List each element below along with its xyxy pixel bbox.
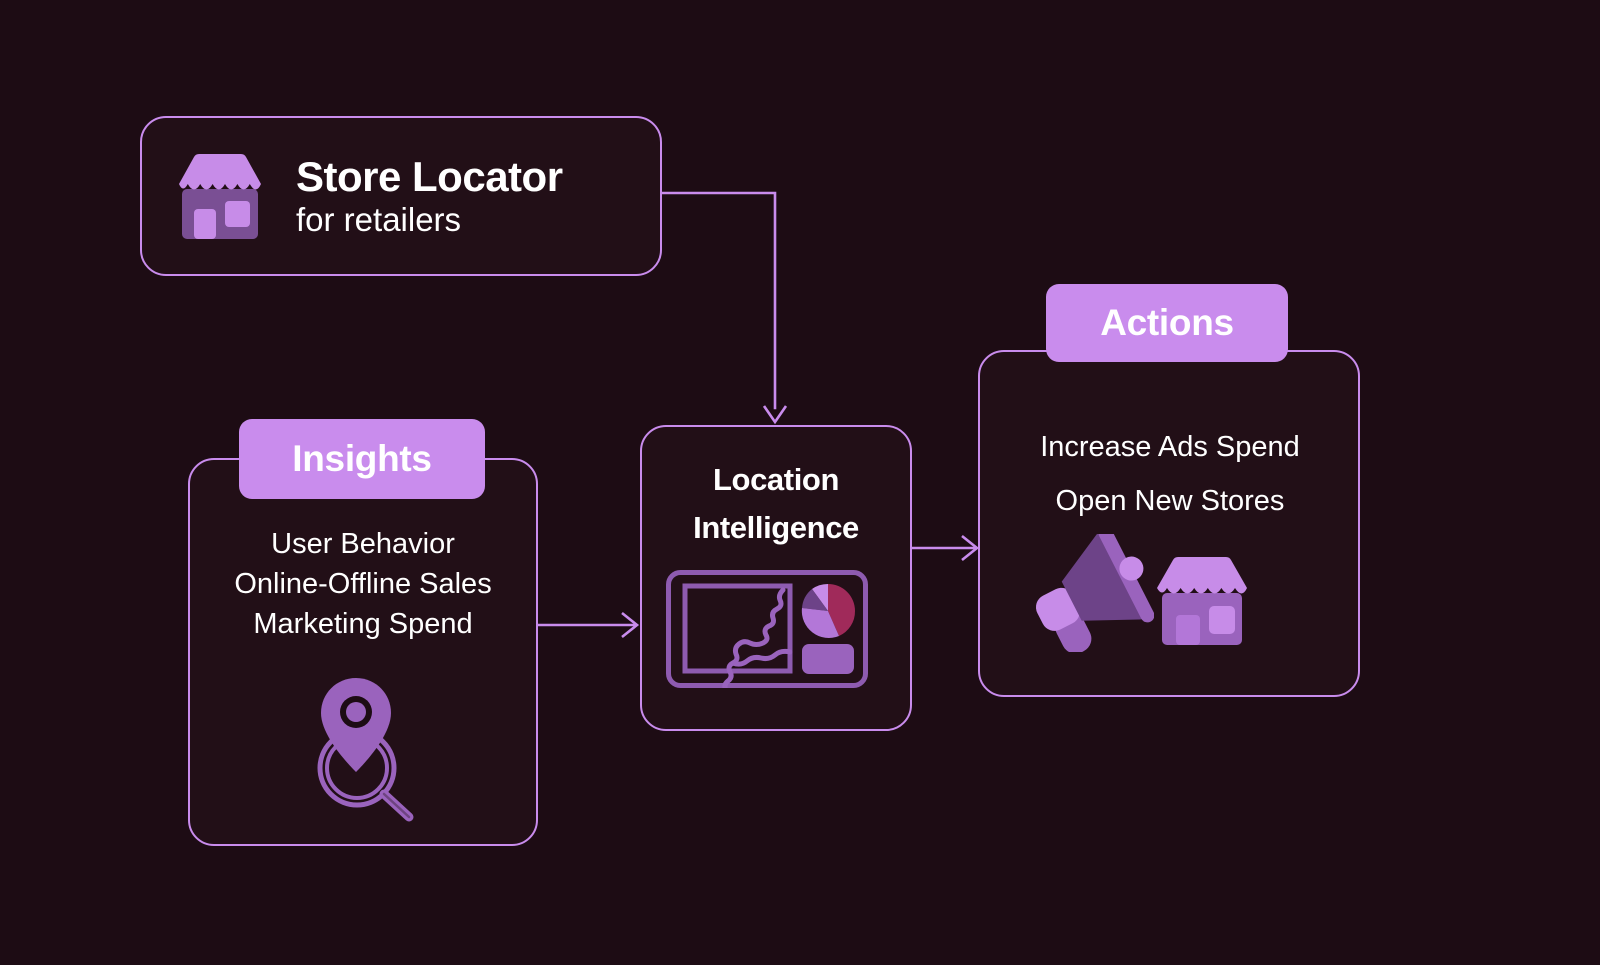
pie-chart-glyph [802,584,855,638]
store-locator-text-group: Store Locator for retailers [296,155,563,238]
actions-badge: Actions [1046,284,1288,362]
location-intelligence-title-line-2: Intelligence [644,504,908,552]
diagram-canvas: Store Locator for retailers Insights Use… [0,0,1600,965]
store-locator-title: Store Locator [296,155,563,199]
location-intelligence-title: Location Intelligence [644,456,908,552]
storefront-icon [1146,548,1258,652]
connector-insights-to-location-intelligence [539,613,637,637]
insights-badge: Insights [239,419,485,499]
megaphone-icon [1026,534,1154,652]
connector-store-locator-to-location-intelligence [662,193,786,422]
map-pin-search-icon [303,664,425,824]
insights-item: Online-Offline Sales [190,564,536,604]
location-intelligence-title-line-1: Location [644,456,908,504]
insights-item: User Behavior [190,524,536,564]
insights-item-list: User Behavior Online-Offline Sales Marke… [190,524,536,644]
actions-item: Open New Stores [980,474,1360,528]
insights-item: Marketing Spend [190,604,536,644]
store-locator-card[interactable]: Store Locator for retailers [140,116,662,276]
actions-badge-label: Actions [1100,302,1234,344]
insights-badge-label: Insights [292,438,431,480]
connector-location-intelligence-to-actions [913,536,977,560]
actions-item-list: Increase Ads Spend Open New Stores [980,420,1360,528]
actions-item: Increase Ads Spend [980,420,1360,474]
store-locator-subtitle: for retailers [296,203,563,238]
dashboard-map-chart-icon [666,570,868,688]
storefront-icon [168,144,272,248]
